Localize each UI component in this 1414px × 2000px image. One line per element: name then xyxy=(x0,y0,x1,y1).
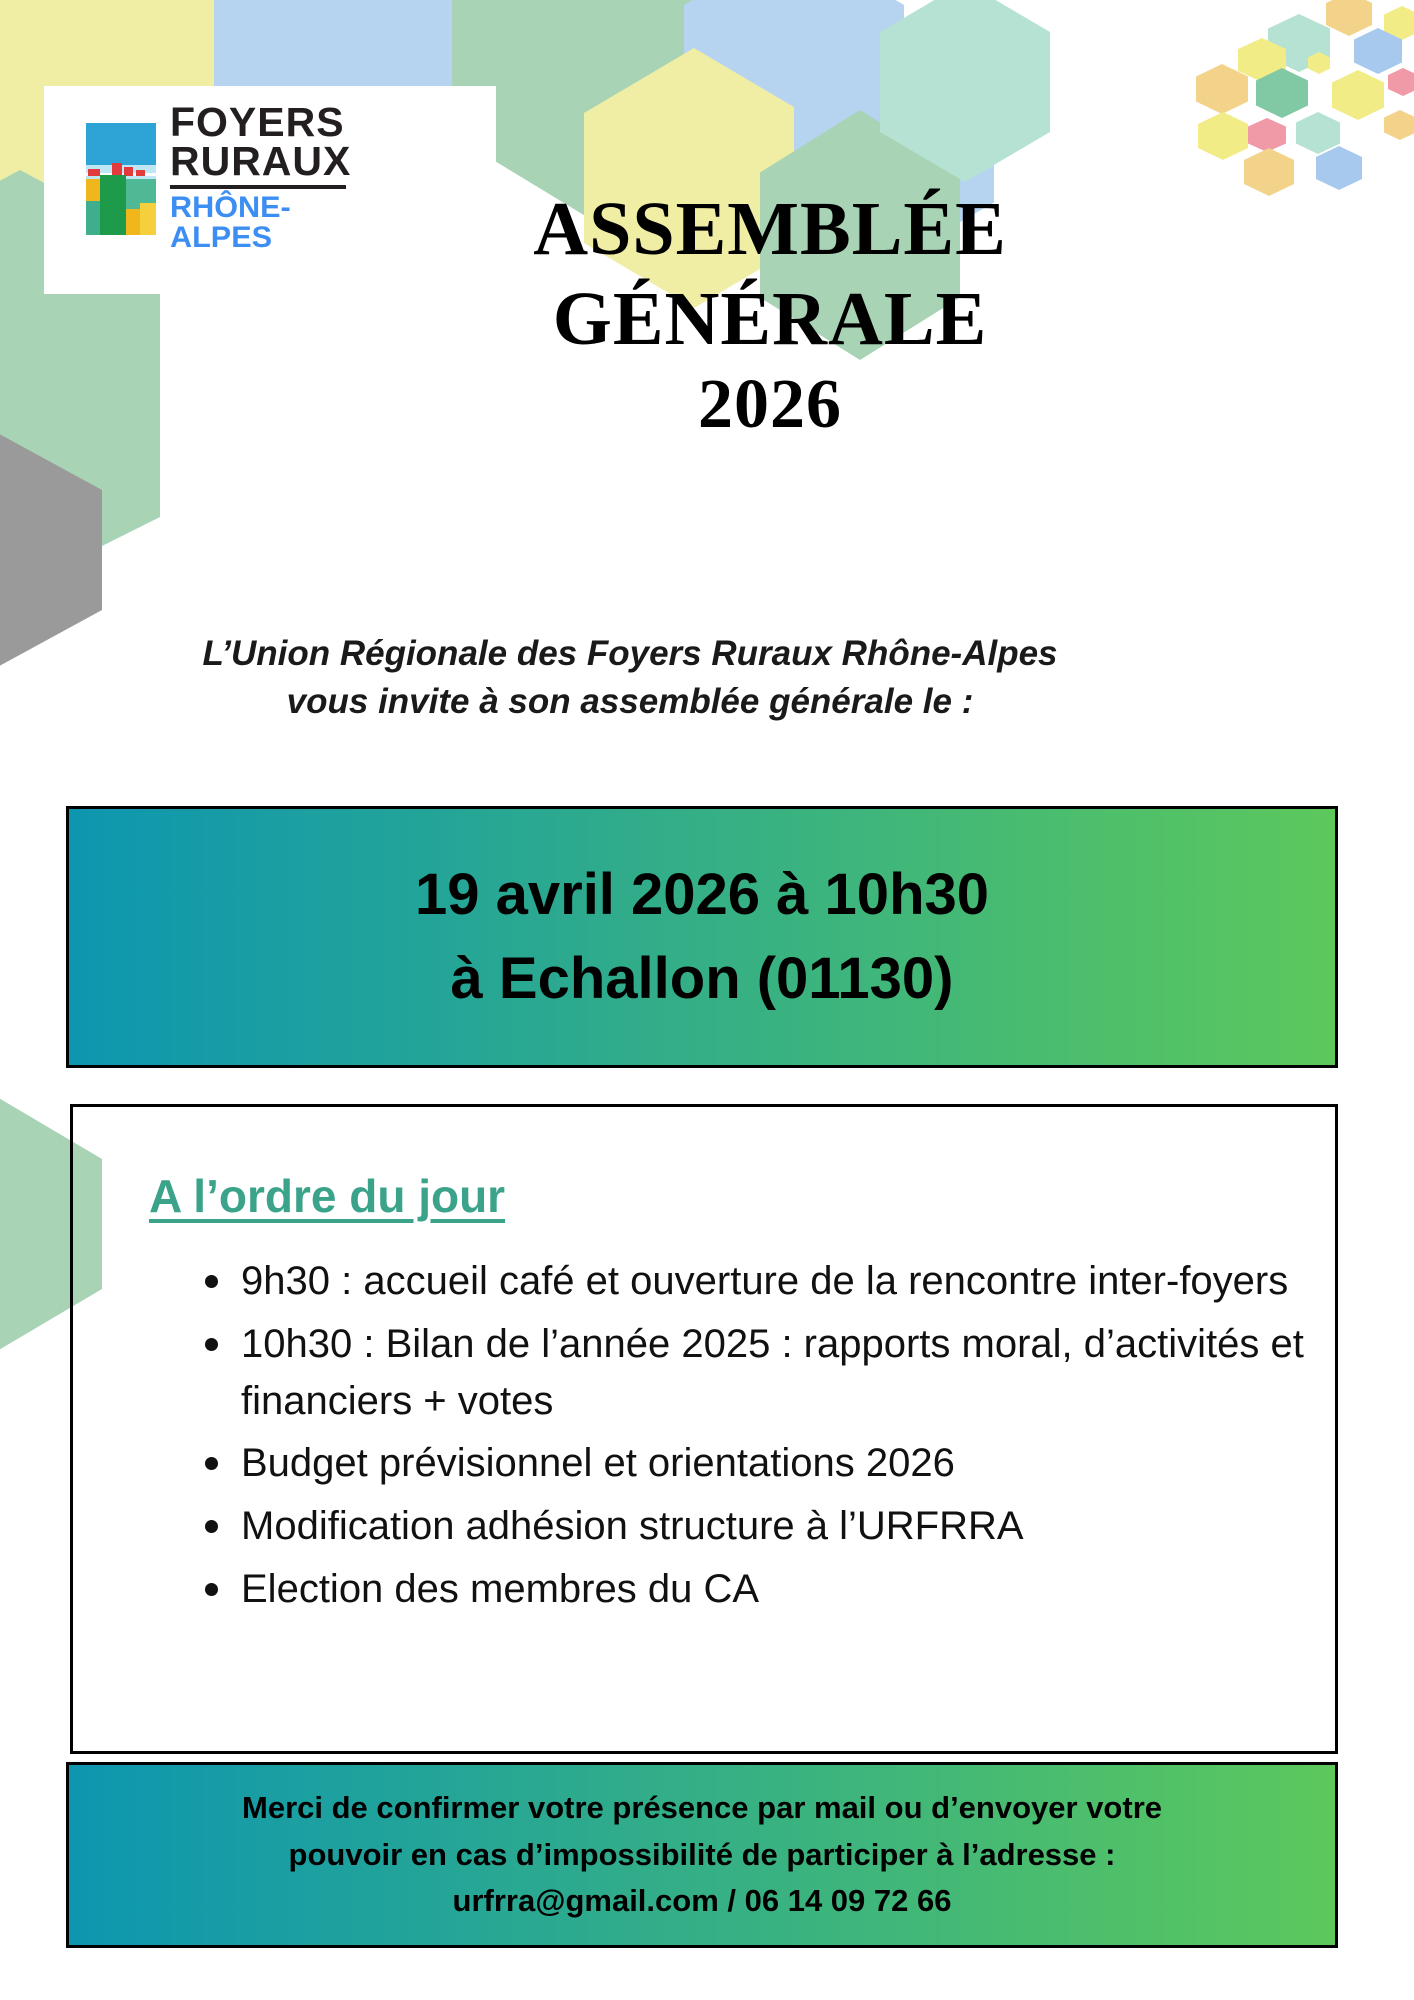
rsvp-contact: urfrra@gmail.com / 06 14 09 72 66 xyxy=(439,1878,966,1925)
hex-palemint-s2 xyxy=(1296,112,1340,154)
hex-pink-s2 xyxy=(1248,118,1286,152)
hex-skyblue-s2 xyxy=(1316,146,1362,190)
hex-lemon-s5 xyxy=(1198,112,1248,160)
poster-root: FOYERS RURAUX RHÔNE-ALPES ASSEMBLÉE GÉNÉ… xyxy=(0,0,1414,2000)
agenda-item: 9h30 : accueil café et ouverture de la r… xyxy=(241,1253,1331,1310)
hex-gold-s4 xyxy=(1244,148,1294,196)
hex-gold-s3 xyxy=(1384,110,1414,140)
rsvp-line-2: pouvoir en cas d’impossibilité de partic… xyxy=(275,1832,1130,1879)
agenda-box: A l’ordre du jour 9h30 : accueil café et… xyxy=(70,1104,1338,1754)
organization-logo: FOYERS RURAUX RHÔNE-ALPES xyxy=(78,104,368,252)
hex-lemon-s4 xyxy=(1332,70,1384,120)
agenda-list: 9h30 : accueil café et ouverture de la r… xyxy=(183,1253,1331,1624)
logo-line-ruraux: RURAUX xyxy=(170,142,368,181)
logo-line-rhone-alpes: RHÔNE-ALPES xyxy=(170,193,372,253)
rsvp-footer-banner: Merci de confirmer votre présence par ma… xyxy=(66,1762,1338,1948)
subtitle-line-1: L’Union Régionale des Foyers Ruraux Rhôn… xyxy=(90,630,1170,678)
hex-pink-s1 xyxy=(1388,68,1414,96)
invitation-subtitle: L’Union Régionale des Foyers Ruraux Rhôn… xyxy=(90,630,1170,727)
agenda-heading: A l’ordre du jour xyxy=(149,1169,505,1223)
date-location-banner: 19 avril 2026 à 10h30 à Echallon (01130) xyxy=(66,806,1338,1068)
location-text: à Echallon (01130) xyxy=(451,937,954,1021)
title-line-assemblee: ASSEMBLÉE xyxy=(420,185,1120,275)
rsvp-line-1: Merci de confirmer votre présence par ma… xyxy=(228,1785,1176,1832)
title-line-generale: GÉNÉRALE xyxy=(420,275,1120,365)
page-title: ASSEMBLÉE GÉNÉRALE 2026 xyxy=(420,185,1120,447)
logo-line-foyers: FOYERS xyxy=(170,103,368,142)
logo-divider xyxy=(170,185,346,189)
agenda-item: Modification adhésion structure à l’URFR… xyxy=(241,1498,1331,1555)
subtitle-line-2: vous invite à son assemblée générale le … xyxy=(90,678,1170,726)
hex-gold-s1 xyxy=(1326,0,1372,36)
agenda-item: Election des membres du CA xyxy=(241,1561,1331,1618)
date-time-text: 19 avril 2026 à 10h30 xyxy=(415,853,989,937)
foyers-ruraux-logo-mark xyxy=(78,113,156,243)
title-year: 2026 xyxy=(420,364,1120,447)
agenda-item: 10h30 : Bilan de l’année 2025 : rapports… xyxy=(241,1316,1331,1430)
agenda-item: Budget prévisionnel et orientations 2026 xyxy=(241,1435,1331,1492)
